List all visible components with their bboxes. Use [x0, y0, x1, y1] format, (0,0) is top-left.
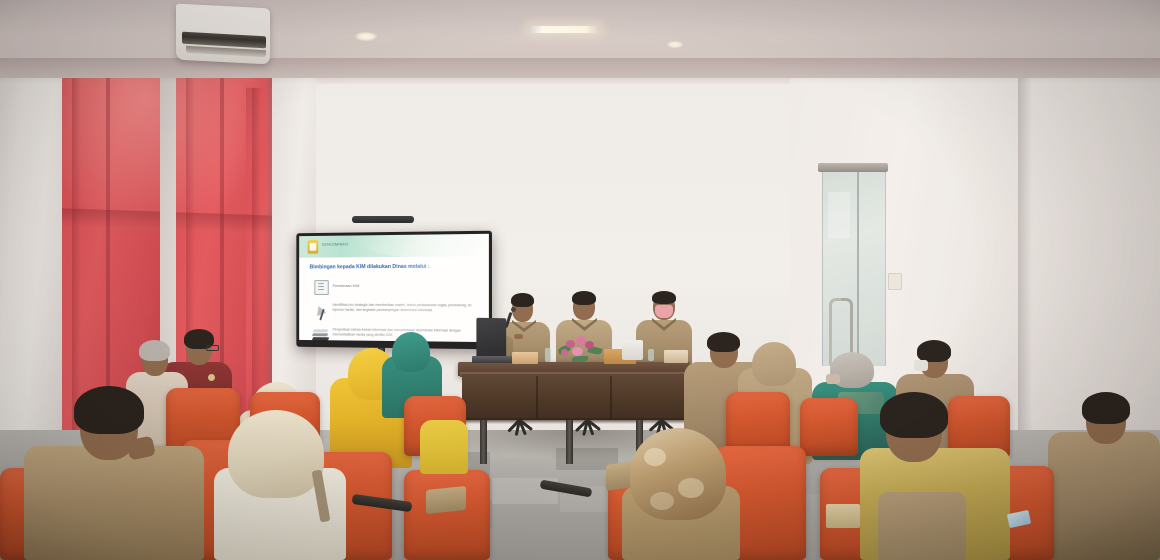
face-mask [914, 360, 928, 371]
eyeglasses-icon [206, 345, 219, 351]
water-bottle [648, 349, 654, 361]
stack-icon [310, 326, 333, 342]
slide-bullet-text: Pembinaan KIM [333, 277, 360, 289]
snack-box [512, 352, 538, 364]
hijab-motif [678, 478, 704, 498]
attendee-hair [917, 340, 951, 362]
ceiling-downlight-icon [667, 41, 683, 48]
water-bottle [545, 348, 551, 362]
ceiling-strip-light-icon [528, 26, 600, 33]
laptop-base[interactable] [472, 356, 512, 363]
khaki-hijab [752, 342, 796, 386]
chair-writing-tablet[interactable] [426, 486, 466, 514]
pen-icon [310, 302, 333, 322]
right-hair [652, 291, 676, 304]
slide-brand-text: DISKOMINFO [322, 241, 348, 246]
orange-chair[interactable] [800, 398, 858, 456]
khaki-uniform [24, 446, 204, 560]
table-leg [480, 420, 487, 464]
glass-door-reflection [828, 192, 850, 238]
brown-patterned-hijab [630, 428, 726, 520]
table-panel-seam [610, 376, 612, 420]
tissue-box [622, 340, 643, 360]
attendee-hair [707, 332, 740, 352]
attendee-hair [74, 386, 144, 434]
laptop[interactable] [476, 318, 506, 359]
tv-screen: DISKOMINFO Bimbingan kepada KIM dilakuka… [299, 234, 489, 342]
hijab-motif [644, 448, 666, 466]
slide-logo-inner [310, 243, 317, 251]
grey-hair [139, 340, 170, 361]
slide-bullet-list: Pembinaan KIM Identifikasi isu strategis… [310, 277, 484, 342]
orange-chair[interactable] [726, 392, 790, 454]
batik-motif [208, 374, 215, 381]
television-display[interactable]: DISKOMINFO Bimbingan kepada KIM dilakuka… [296, 231, 492, 350]
ceiling-downlight-icon [355, 32, 377, 41]
tv-stand-top-arm [352, 216, 414, 223]
face-mask [826, 374, 840, 384]
speaker-hand [514, 334, 523, 339]
teal-hijab [392, 332, 430, 372]
slide-bullet-item: Pembinaan KIM [310, 277, 484, 297]
chair-wheelbase [566, 420, 610, 438]
meeting-room-photo: DISKOMINFO Bimbingan kepada KIM dilakuka… [0, 0, 1160, 560]
slide-bullet-item: Identifikasi isu strategis dan memberika… [310, 302, 484, 323]
table-panel-seam [536, 376, 538, 420]
attendee-hair [880, 392, 948, 438]
chair-wheelbase [498, 420, 542, 438]
microphone-icon [511, 307, 516, 312]
snack-box [826, 504, 860, 528]
attendee-hair [1082, 392, 1130, 424]
slide-bullet-text: Identifikasi isu strategis dan memberika… [333, 302, 484, 314]
attendee-hijab-yellow-shoulder [420, 420, 468, 474]
center-hair [572, 291, 596, 305]
speaker-hair [511, 293, 534, 307]
light-switch-icon[interactable] [888, 273, 902, 290]
flower-arrangement [556, 334, 604, 364]
glass-door-frame [818, 163, 888, 172]
ceiling-shadow [0, 58, 1160, 84]
khaki-uniform [1048, 432, 1160, 560]
hijab-motif [650, 492, 674, 510]
slide-title: Bimbingan kepada KIM dilakukan Dinas mel… [310, 263, 478, 270]
panel-table-front [462, 374, 684, 420]
document-icon [310, 277, 333, 297]
glass-door-mullion [857, 170, 859, 366]
cream-patterned-hijab [228, 410, 324, 498]
khaki-lap [878, 492, 966, 560]
presentation-slide: DISKOMINFO Bimbingan kepada KIM dilakuka… [299, 234, 489, 342]
snack-box [664, 350, 688, 363]
curtain-fold [252, 88, 261, 424]
pink-face-mask [655, 305, 673, 318]
